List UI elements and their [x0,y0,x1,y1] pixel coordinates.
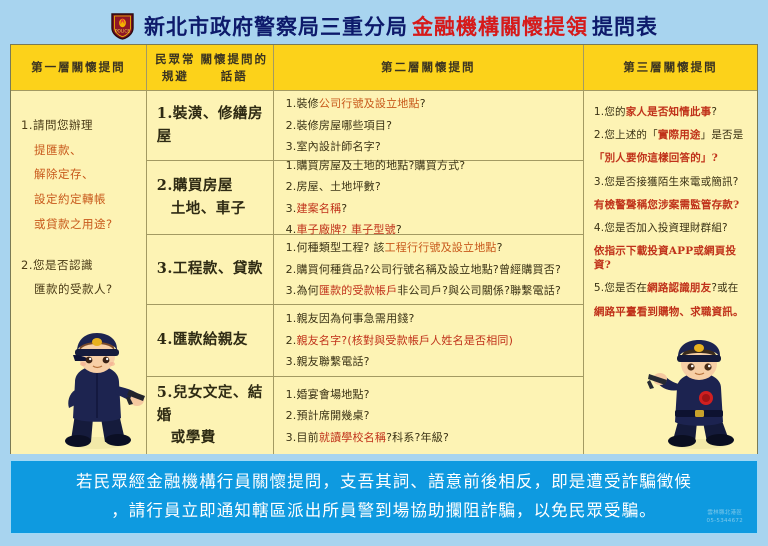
layer1-q1-line4: 或貸款之用途? [21,212,138,237]
layer2-question: 3.建案名稱? [286,198,466,219]
q-part-a: 4.您是否加入投資理財群組? [594,222,728,234]
q-part-a: 1.婚宴會場地點? [286,388,370,401]
poster-title: 新北市政府警察局三重分局 金融機構關懷提領 提問表 [144,11,658,41]
q-part-b: ? [341,202,347,215]
layer2-row: 1.親友因為何事急需用錢? 2.親友名字?(核對與受款帳戶人姓名是否相同) 3.… [274,305,583,377]
q-part-b: 非公司戶?與公司關係?聯繫電話? [397,284,561,297]
title-main: 新北市政府警察局三重分局 [144,11,408,41]
layer2-question-list: 1.何種類型工程? 該工程行行號及設立地點? 2.購買何種貨品?公司行號名稱及設… [286,237,561,301]
category-line2: 土地、車子 [157,198,246,220]
column-layer3: 第三層關懷提問 1.您的家人是否知情此事? 2.您上述的「實際用途」是否是 「別… [584,45,757,454]
layer2-question: 1.何種類型工程? 該工程行行號及設立地點? [286,237,561,258]
q-part-b: ? [420,97,426,110]
police-badge-icon: POLICE [110,12,135,40]
q-part-a: 2.您上述的「 [594,129,658,141]
category-line1: 2.購買房屋 [157,177,233,194]
q-part-highlight: 匯款的受款帳戶 [319,284,397,297]
q-part-highlight: 工程行行號及設立地點 [385,241,497,254]
column-header-common-avoid: 民眾常規避 關懷提問的話語 [147,45,273,91]
column-header-layer1: 第一層關懷提問 [11,45,146,91]
column-layer2: 第二層關懷提問 1.裝修公司行號及設立地點? 2.裝修房屋哪些項目? 3.室內設… [274,45,584,454]
q-part-a: 2.預計席開幾桌? [286,409,370,422]
q-part-a: 1.購買房屋及土地的地點?購買方式? [286,159,466,172]
q-part-highlight: 親友名字?(核對與受款帳戶人姓名是否相同) [296,334,513,347]
layer3-question-list: 1.您的家人是否知情此事? 2.您上述的「實際用途」是否是 「別人要你這樣回答的… [594,105,749,319]
layer3-item-emphasis-line: 有檢警聲稱您涉案需監管存款? [594,198,749,212]
layer2-row: 1.購買房屋及土地的地點?購買方式? 2.房屋、土地坪數? 3.建案名稱? 4.… [274,161,583,235]
column-header-common-avoid-line2: 關懷提問的話語 [200,51,269,84]
footer-watermark: 雲林縣北港區 05-5344672 [707,509,743,526]
layer1-body: 1.請問您辦理 提匯款、 解除定存、 設定約定轉帳 或貸款之用途? 2.您是否認… [11,91,146,455]
layer2-question: 1.婚宴會場地點? [286,384,449,405]
q-part-a: 3.目前 [286,431,319,444]
poster-root: POLICE 新北市政府警察局三重分局 金融機構關懷提領 提問表 第一層關懷提問… [0,0,768,546]
layer2-question-list: 1.裝修公司行號及設立地點? 2.裝修房屋哪些項目? 3.室內設計師名字? [286,93,426,157]
layer3-body: 1.您的家人是否知情此事? 2.您上述的「實際用途」是否是 「別人要你這樣回答的… [584,91,757,455]
title-highlight: 金融機構關懷提領 [412,11,588,41]
layer2-row: 1.何種類型工程? 該工程行行號及設立地點? 2.購買何種貨品?公司行號名稱及設… [274,235,583,305]
layer2-question: 2.房屋、土地坪數? [286,176,466,197]
poster-header: POLICE 新北市政府警察局三重分局 金融機構關懷提領 提問表 [10,8,758,44]
category-row: 1.裝潢、修繕房屋 [147,91,273,161]
q-part-a: 4. [286,223,297,236]
category-rows: 1.裝潢、修繕房屋 2.購買房屋 土地、車子 3.工程款、貸款 [147,91,273,455]
layer3-item-emphasis-line: 網路平臺看到購物、求職資訊。 [594,305,749,319]
layer1-q1-head: 1.請問您辦理 [21,118,93,132]
layer1-q2-head: 2.您是否認識 [21,258,93,272]
layer1-question-1: 1.請問您辦理 提匯款、 解除定存、 設定約定轉帳 或貸款之用途? [21,113,138,237]
layer2-row: 1.裝修公司行號及設立地點? 2.裝修房屋哪些項目? 3.室內設計師名字? [274,91,583,161]
q-part-a: 1.何種類型工程? 該 [286,241,385,254]
category-row: 3.工程款、貸款 [147,235,273,305]
column-common-avoid: 民眾常規避 關懷提問的話語 1.裝潢、修繕房屋 2.購買房屋 土地、車子 [147,45,274,454]
q-part-highlight: 建案名稱 [296,202,341,215]
q-part-a: 2.裝修房屋哪些項目? [286,119,393,132]
category-row: 2.購買房屋 土地、車子 [147,161,273,235]
q-part-b: ?科系?年級? [386,431,449,444]
layer2-question: 3.目前就讀學校名稱?科系?年級? [286,427,449,448]
layer3-item: 1.您的家人是否知情此事? [594,105,749,119]
column-layer1: 第一層關懷提問 1.請問您辦理 提匯款、 解除定存、 設定約定轉帳 或貸款之用途… [11,45,147,454]
layer3-item-emphasis-line: 依指示下載投資APP或網頁投資? [594,244,749,272]
category-line2: 或學費 [157,427,273,449]
category-line1: 4.匯款給親友 [157,331,248,348]
layer2-question: 1.購買房屋及土地的地點?購買方式? [286,155,466,176]
layer3-item-emphasis-line: 「別人要你這樣回答的」? [594,151,749,165]
q-part-a: 3.您是否接獲陌生來電或簡訊? [594,176,739,188]
category-label: 5.兒女文定、結婚 或學費 [157,382,273,449]
watermark-line-2: 05-5344672 [707,517,743,525]
q-part-highlight: 就讀學校名稱 [319,431,386,444]
layer2-question: 2.親友名字?(核對與受款帳戶人姓名是否相同) [286,330,514,351]
category-line1: 3.工程款、貸款 [157,260,263,277]
svg-text:POLICE: POLICE [115,29,130,34]
q-part-b: ? [497,241,503,254]
layer2-question: 3.親友聯繫電話? [286,351,514,372]
q-part-a: 2.購買何種貨品?公司行號名稱及設立地點?曾經購買否? [286,263,561,276]
q-part-emphasis: 網路認識朋友 [647,282,711,294]
layer3-item: 5.您是否在網路認識朋友?或在 [594,281,749,295]
layer2-question-list: 1.購買房屋及土地的地點?購買方式? 2.房屋、土地坪數? 3.建案名稱? 4.… [286,155,466,241]
q-part-a: 2.房屋、土地坪數? [286,180,381,193]
layer2-question: 1.裝修公司行號及設立地點? [286,93,426,114]
q-part-a: 3.為何 [286,284,319,297]
column-header-layer3: 第三層關懷提問 [584,45,757,91]
category-row: 4.匯款給親友 [147,305,273,377]
footer-banner: 若民眾經金融機構行員關懷提問，支吾其詞、語意前後相反，即是遭受詐騙徵候 ，請行員… [10,460,758,534]
layer1-spacer [21,237,138,253]
layer1-q1-line2: 解除定存、 [21,162,138,187]
q-part-a: 5.您是否在 [594,282,647,294]
footer-line-1: 若民眾經金融機構行員關懷提問，支吾其詞、語意前後相反，即是遭受詐騙徵候 [76,468,692,497]
q-part-a: 1.裝修 [286,97,319,110]
q-part-emphasis: 家人是否知情此事 [626,106,712,118]
layer2-question: 2.預計席開幾桌? [286,405,449,426]
category-line1: 5.兒女文定、結婚 [157,384,263,423]
layer1-q1-line3: 設定約定轉帳 [21,187,138,212]
category-label: 4.匯款給親友 [157,329,248,351]
layer3-item: 3.您是否接獲陌生來電或簡訊? [594,175,749,189]
layer2-question-list: 1.婚宴會場地點? 2.預計席開幾桌? 3.目前就讀學校名稱?科系?年級? [286,384,449,448]
q-part-b: ? [396,223,402,236]
category-row: 5.兒女文定、結婚 或學費 [147,377,273,455]
q-part-a: 3.室內設計師名字? [286,140,381,153]
layer1-q1-line1: 提匯款、 [21,138,138,163]
layer2-question: 3.為何匯款的受款帳戶非公司戶?與公司關係?聯繫電話? [286,280,561,301]
q-part-highlight: 車子廠牌? 車子型號 [296,223,395,236]
column-header-layer2: 第二層關懷提問 [274,45,583,91]
q-part-highlight: 公司行號及設立地點 [319,97,420,110]
questions-table: 第一層關懷提問 1.請問您辦理 提匯款、 解除定存、 設定約定轉帳 或貸款之用途… [10,44,758,454]
q-part-a: 1.親友因為何事急需用錢? [286,312,415,325]
footer-line-2: ，請行員立即通知轄區派出所員警到場協助攔阻詐騙，以免民眾受騙。 [111,497,657,526]
layer1-q2-line1: 匯款的受款人? [21,277,138,302]
q-part-a: 2. [286,334,297,347]
q-part-a: 1.您的 [594,106,626,118]
watermark-line-1: 雲林縣北港區 [707,509,743,517]
layer3-item: 2.您上述的「實際用途」是否是 [594,128,749,142]
q-part-b: ?或在 [711,282,738,294]
layer2-question-list: 1.親友因為何事急需用錢? 2.親友名字?(核對與受款帳戶人姓名是否相同) 3.… [286,308,514,372]
layer2-question: 2.購買何種貨品?公司行號名稱及設立地點?曾經購買否? [286,259,561,280]
q-part-emphasis: 實際用途 [658,129,701,141]
category-label: 1.裝潢、修繕房屋 [157,103,273,148]
layer3-item: 4.您是否加入投資理財群組? [594,221,749,235]
q-part-b: ? [711,106,717,118]
layer2-row: 1.婚宴會場地點? 2.預計席開幾桌? 3.目前就讀學校名稱?科系?年級? [274,377,583,455]
layer1-question-2: 2.您是否認識 匯款的受款人? [21,253,138,302]
layer2-question: 2.裝修房屋哪些項目? [286,115,426,136]
category-label: 2.購買房屋 土地、車子 [157,175,246,220]
layer2-question: 1.親友因為何事急需用錢? [286,308,514,329]
category-line1: 1.裝潢、修繕房屋 [157,105,263,144]
layer2-rows: 1.裝修公司行號及設立地點? 2.裝修房屋哪些項目? 3.室內設計師名字? 1.… [274,91,583,455]
category-label: 3.工程款、貸款 [157,258,263,280]
q-part-b: 」是否是 [701,129,744,141]
q-part-a: 3.親友聯繫電話? [286,355,370,368]
column-header-common-avoid-line1: 民眾常規避 [151,51,200,84]
q-part-a: 3. [286,202,297,215]
title-tail: 提問表 [592,11,658,41]
